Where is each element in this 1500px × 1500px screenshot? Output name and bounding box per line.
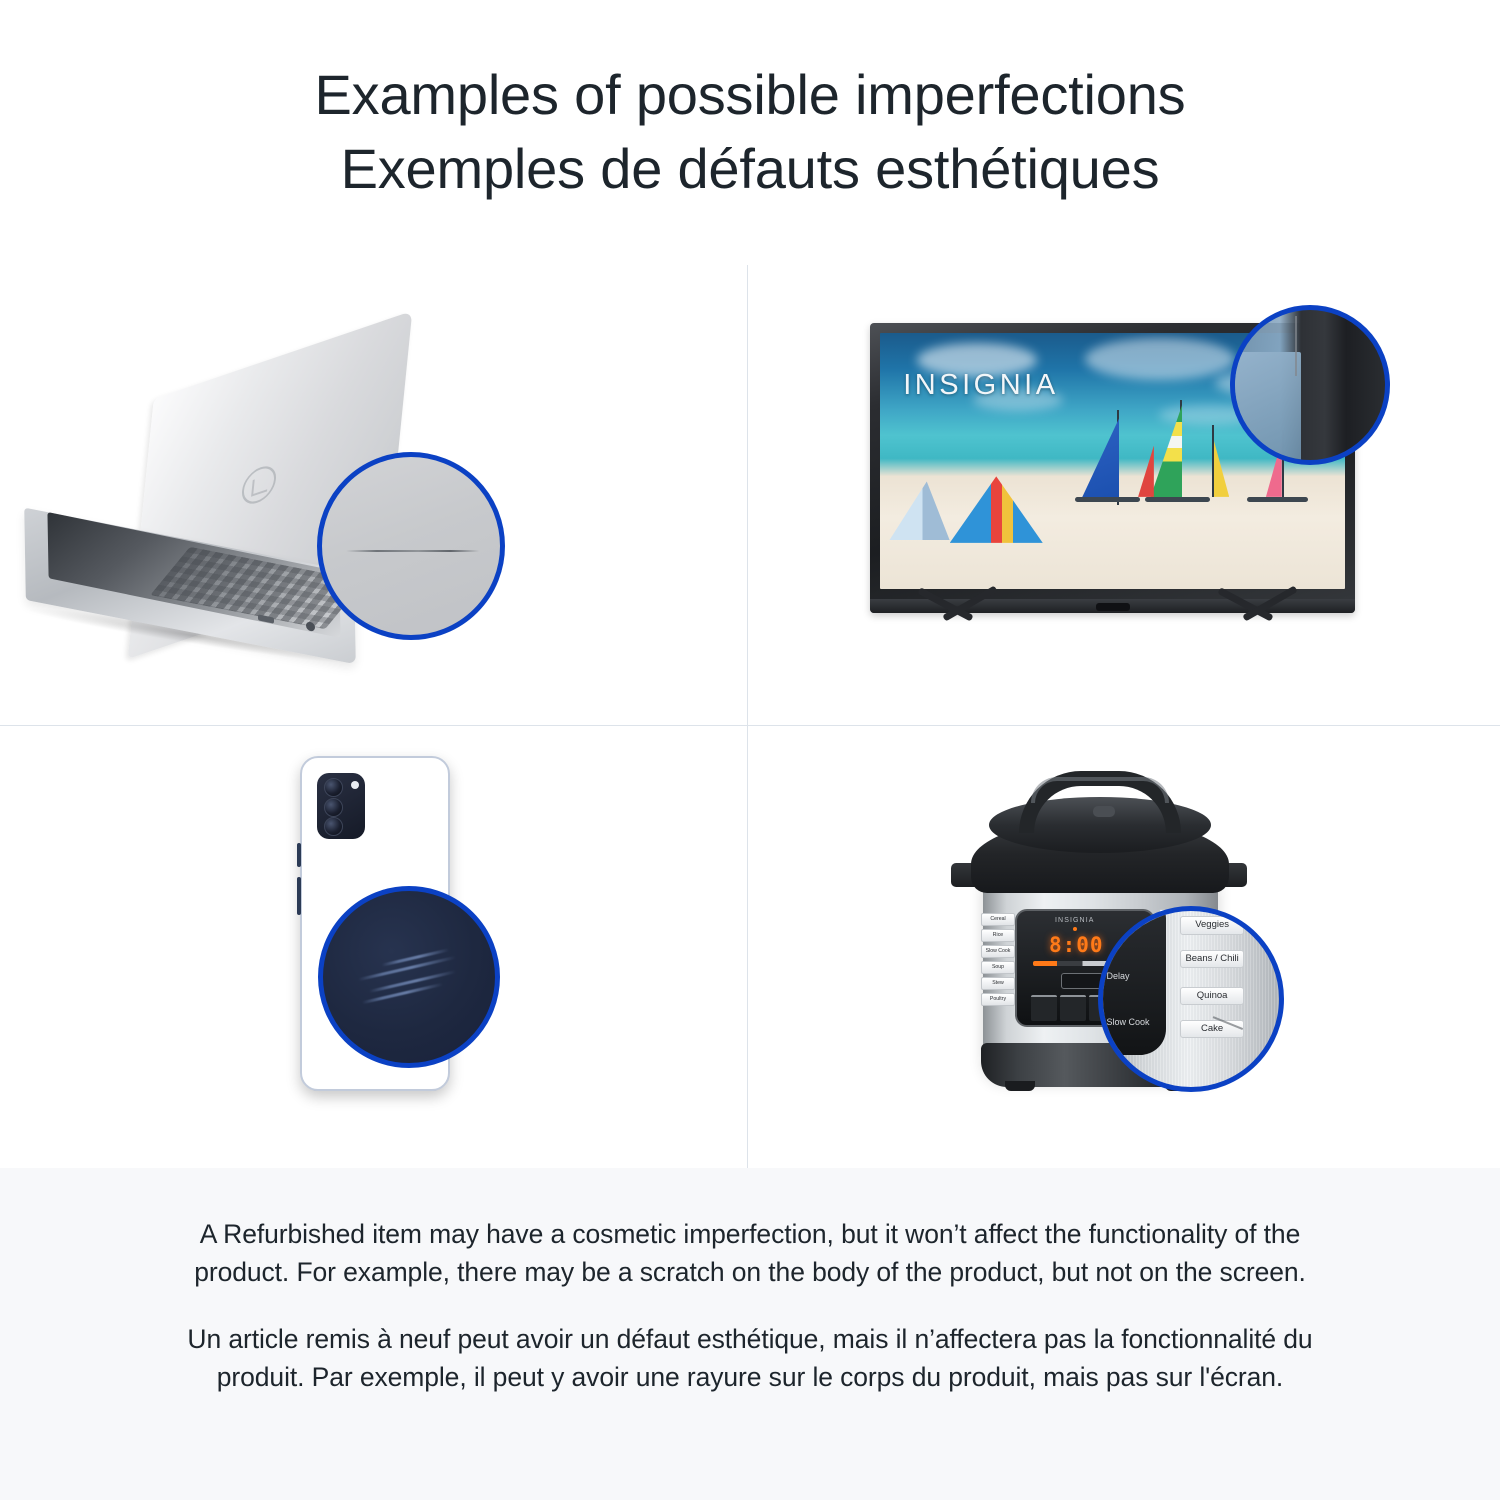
smartphone-power-button	[297, 877, 301, 915]
sailboat-hull	[1075, 497, 1140, 502]
beach-tent-blue	[950, 476, 1043, 543]
panel-television: INSIGNIA	[748, 265, 1500, 725]
cooker-zoom-button-cake: Cake	[1180, 1020, 1243, 1038]
smartphone-volume-button	[297, 843, 301, 867]
cooker-zoom-button-veggies: Veggies	[1180, 916, 1243, 934]
page-title: Examples of possible imperfections Exemp…	[0, 58, 1500, 206]
cooker-button-soup[interactable]: Soup	[981, 961, 1015, 974]
cooker-foot	[1005, 1081, 1035, 1091]
cooker-button-stew[interactable]: Stew	[981, 977, 1015, 990]
cooker-button-poultry[interactable]: Poultry	[981, 993, 1015, 1006]
phone-scratch-line	[362, 983, 443, 1004]
cooker-zoom-button-quinoa: Quinoa	[1180, 987, 1243, 1005]
sailboat-mast	[1212, 425, 1214, 497]
camera-lens-icon	[324, 798, 343, 817]
footer-description: A Refurbished item may have a cosmetic i…	[0, 1168, 1500, 1500]
footer-paragraph-english: A Refurbished item may have a cosmetic i…	[150, 1216, 1350, 1291]
cooker-led-display: 8:00	[1049, 933, 1104, 957]
smartphone-camera-module	[317, 773, 365, 839]
sailboat-sail-yellow	[1212, 435, 1229, 496]
magnifier-circle-cooker-scratch: Veggies Beans / Chili Quinoa Cake Delay …	[1098, 906, 1284, 1092]
camera-flash-icon	[351, 781, 359, 789]
cooker-brand-logo: INSIGNIA	[1055, 917, 1095, 924]
sailboat-hull	[1247, 497, 1307, 502]
sailboat-hull	[1145, 497, 1210, 502]
cooker-left-button-column[interactable]: Cereal Rice Slow Cook Soup Stew Poultry	[981, 913, 1015, 1006]
cooker-button-rice[interactable]: Rice	[981, 929, 1015, 942]
cooker-status-indicator	[1073, 927, 1077, 931]
magnifier-circle-tv-bezel	[1230, 305, 1390, 465]
tv-bezel-scratch	[1295, 316, 1297, 376]
sailboat-sail-red	[1138, 446, 1154, 497]
laptop-illustration	[20, 360, 440, 660]
panel-laptop	[0, 265, 747, 725]
magnifier-circle-phone-scratches	[318, 886, 500, 1068]
refurbished-imperfections-infographic: Examples of possible imperfections Exemp…	[0, 0, 1500, 1500]
cooker-zoom-label-slow-cook: Slow Cook	[1107, 1017, 1150, 1027]
smartphone-illustration	[270, 751, 480, 1141]
beach-tent-white	[889, 481, 949, 540]
tv-bezel-corner-zoom	[1235, 352, 1301, 460]
footer-paragraph-french: Un article remis à neuf peut avoir un dé…	[150, 1321, 1350, 1396]
camera-lens-icon	[324, 778, 343, 797]
cooker-key[interactable]	[1031, 995, 1057, 1021]
title-french: Exemples de défauts esthétiques	[0, 132, 1500, 206]
tv-screen-brand-logo: INSIGNIA	[903, 369, 1058, 402]
examples-grid: INSIGNIA	[0, 265, 1500, 1168]
camera-lens-icon	[324, 817, 343, 836]
panel-pressure-cooker: Cereal Rice Slow Cook Soup Stew Poultry …	[748, 726, 1500, 1168]
tv-ir-sensor	[1096, 603, 1130, 611]
tv-illustration: INSIGNIA	[860, 303, 1380, 683]
panel-smartphone	[0, 726, 747, 1168]
cloud-shape	[1085, 338, 1235, 380]
cooker-mini-display	[1061, 973, 1103, 989]
magnifier-circle-laptop-scratch	[317, 452, 505, 640]
sailboat-sail-blue	[1080, 417, 1120, 501]
cooker-zoom-label-delay: Delay	[1107, 971, 1130, 981]
cooker-key[interactable]	[1060, 995, 1086, 1021]
cooker-zoom-button-beans-chili: Beans / Chili	[1180, 950, 1243, 968]
cooker-button-slow-cook[interactable]: Slow Cook	[981, 945, 1015, 958]
pressure-cooker-illustration: Cereal Rice Slow Cook Soup Stew Poultry …	[943, 751, 1313, 1141]
cooker-handle-highlight	[1031, 777, 1169, 803]
title-english: Examples of possible imperfections	[0, 58, 1500, 132]
cooker-button-cereal[interactable]: Cereal	[981, 913, 1015, 926]
